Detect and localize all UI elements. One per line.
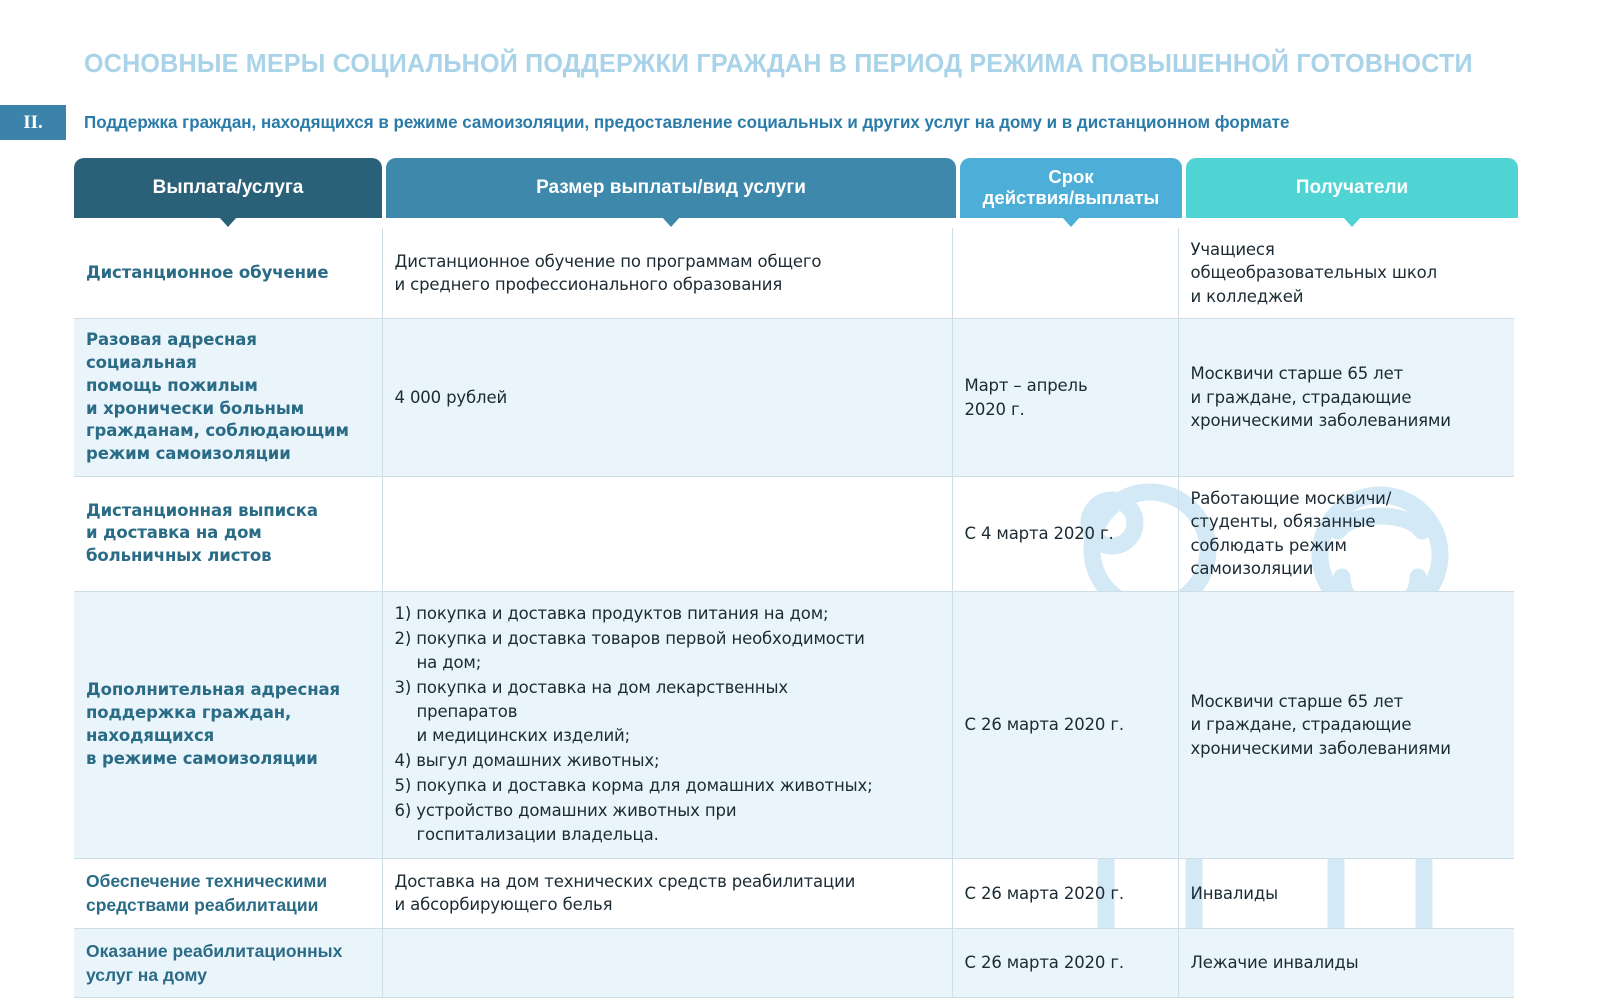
table-header-label: Размер выплаты/вид услуги xyxy=(536,177,806,198)
section-subtitle: Поддержка граждан, находящихся в режиме … xyxy=(84,112,1500,133)
table-header-period[interactable]: Срок действия/выплаты xyxy=(960,158,1182,218)
table-row: Обеспечение техническими средствами реаб… xyxy=(74,859,1514,928)
cell-amount-service-type: Дистанционное обучение по программам общ… xyxy=(382,228,952,319)
measure-name: Дистанционное обучение xyxy=(86,262,368,285)
table-row: Дистанционная выписка и доставка на дом … xyxy=(74,476,1514,591)
recipients-value: Лежачие инвалиды xyxy=(1191,951,1501,974)
header-tab-notch-icon xyxy=(662,217,680,227)
measure-name: Обеспечение техническими средствами реаб… xyxy=(86,869,368,917)
service-list: 1) покупка и доставка продуктов питания … xyxy=(395,602,938,848)
service-description: 4 000 рублей xyxy=(395,386,938,409)
period-value: С 26 марта 2020 г. xyxy=(965,951,1164,974)
period-value xyxy=(965,273,1164,274)
cell-payment-service: Дистанционное обучение xyxy=(74,228,382,319)
measure-name: Дистанционная выписка и доставка на дом … xyxy=(86,500,368,568)
cell-recipients: Инвалиды xyxy=(1178,859,1514,928)
cell-period: С 4 марта 2020 г. xyxy=(952,476,1178,591)
cell-recipients: Работающие москвичи/ студенты, обязанные… xyxy=(1178,476,1514,591)
service-description: Дистанционное обучение по программам общ… xyxy=(395,250,938,297)
service-list-item: 1) покупка и доставка продуктов питания … xyxy=(395,602,938,626)
cell-amount-service-type xyxy=(382,928,952,997)
header-tab-notch-icon xyxy=(219,217,237,227)
cell-amount-service-type xyxy=(382,476,952,591)
cell-payment-service: Дополнительная адресная поддержка гражда… xyxy=(74,591,382,859)
service-list-item: 6) устройство домашних животных при госп… xyxy=(395,799,938,847)
measure-name: Разовая адресная социальная помощь пожил… xyxy=(86,329,368,466)
cell-payment-service: Обеспечение техническими средствами реаб… xyxy=(74,859,382,928)
cell-period: С 26 марта 2020 г. xyxy=(952,591,1178,859)
cell-amount-service-type: 1) покупка и доставка продуктов питания … xyxy=(382,591,952,859)
cell-amount-service-type: Доставка на дом технических средств реаб… xyxy=(382,859,952,928)
support-measures-table: Выплата/услугаРазмер выплаты/вид услугиС… xyxy=(74,158,1514,998)
table-header-payment-service[interactable]: Выплата/услуга xyxy=(74,158,382,218)
service-list-item: 4) выгул домашних животных; xyxy=(395,749,938,773)
table-header-label: Выплата/услуга xyxy=(153,177,304,198)
cell-recipients: Лежачие инвалиды xyxy=(1178,928,1514,997)
table-row: Оказание реабилитационных услуг на домуС… xyxy=(74,928,1514,997)
recipients-value: Инвалиды xyxy=(1191,882,1501,905)
service-list-item: 3) покупка и доставка на дом лекарственн… xyxy=(395,676,938,748)
cell-payment-service: Дистанционная выписка и доставка на дом … xyxy=(74,476,382,591)
section-number-badge: II. xyxy=(0,105,66,140)
header-tab-notch-icon xyxy=(1062,217,1080,227)
cell-payment-service: Оказание реабилитационных услуг на дому xyxy=(74,928,382,997)
recipients-value: Работающие москвичи/ студенты, обязанные… xyxy=(1191,487,1501,581)
cell-recipients: Москвичи старше 65 лет и граждане, страд… xyxy=(1178,591,1514,859)
cell-recipients: Москвичи старше 65 лет и граждане, страд… xyxy=(1178,319,1514,477)
service-list-item: 2) покупка и доставка товаров первой нео… xyxy=(395,627,938,675)
table-header-row: Выплата/услугаРазмер выплаты/вид услугиС… xyxy=(74,158,1514,218)
measure-name: Оказание реабилитационных услуг на дому xyxy=(86,939,368,987)
service-description xyxy=(395,962,938,963)
header-tab-notch-icon xyxy=(1343,217,1361,227)
cell-recipients: Учащиеся общеобразовательных школ и колл… xyxy=(1178,228,1514,319)
service-description xyxy=(395,533,938,534)
cell-period: С 26 марта 2020 г. xyxy=(952,928,1178,997)
period-value: Март – апрель 2020 г. xyxy=(965,374,1164,421)
table-body: Дистанционное обучениеДистанционное обуч… xyxy=(74,228,1514,998)
table-header-label: Срок действия/выплаты xyxy=(983,167,1160,208)
recipients-value: Москвичи старше 65 лет и граждане, страд… xyxy=(1191,690,1501,760)
cell-payment-service: Разовая адресная социальная помощь пожил… xyxy=(74,319,382,477)
period-value: С 26 марта 2020 г. xyxy=(965,882,1164,905)
measure-name: Дополнительная адресная поддержка гражда… xyxy=(86,679,368,770)
cell-amount-service-type: 4 000 рублей xyxy=(382,319,952,477)
table-header-amount-service-type[interactable]: Размер выплаты/вид услуги xyxy=(386,158,956,218)
cell-period xyxy=(952,228,1178,319)
table-row: Разовая адресная социальная помощь пожил… xyxy=(74,319,1514,477)
cell-period: Март – апрель 2020 г. xyxy=(952,319,1178,477)
period-value: С 4 марта 2020 г. xyxy=(965,522,1164,545)
table-row: Дистанционное обучениеДистанционное обуч… xyxy=(74,228,1514,319)
service-description: Доставка на дом технических средств реаб… xyxy=(395,870,938,917)
recipients-value: Учащиеся общеобразовательных школ и колл… xyxy=(1191,238,1501,308)
cell-period: С 26 марта 2020 г. xyxy=(952,859,1178,928)
page-title: ОСНОВНЫЕ МЕРЫ СОЦИАЛЬНОЙ ПОДДЕРЖКИ ГРАЖД… xyxy=(84,50,1512,79)
period-value: С 26 марта 2020 г. xyxy=(965,713,1164,736)
page-canvas: ОСНОВНЫЕ МЕРЫ СОЦИАЛЬНОЙ ПОДДЕРЖКИ ГРАЖД… xyxy=(0,0,1600,1000)
table-row: Дополнительная адресная поддержка гражда… xyxy=(74,591,1514,859)
table-header-recipients[interactable]: Получатели xyxy=(1186,158,1518,218)
service-list-item: 5) покупка и доставка корма для домашних… xyxy=(395,774,938,798)
recipients-value: Москвичи старше 65 лет и граждане, страд… xyxy=(1191,362,1501,432)
table-header-label: Получатели xyxy=(1296,177,1408,198)
